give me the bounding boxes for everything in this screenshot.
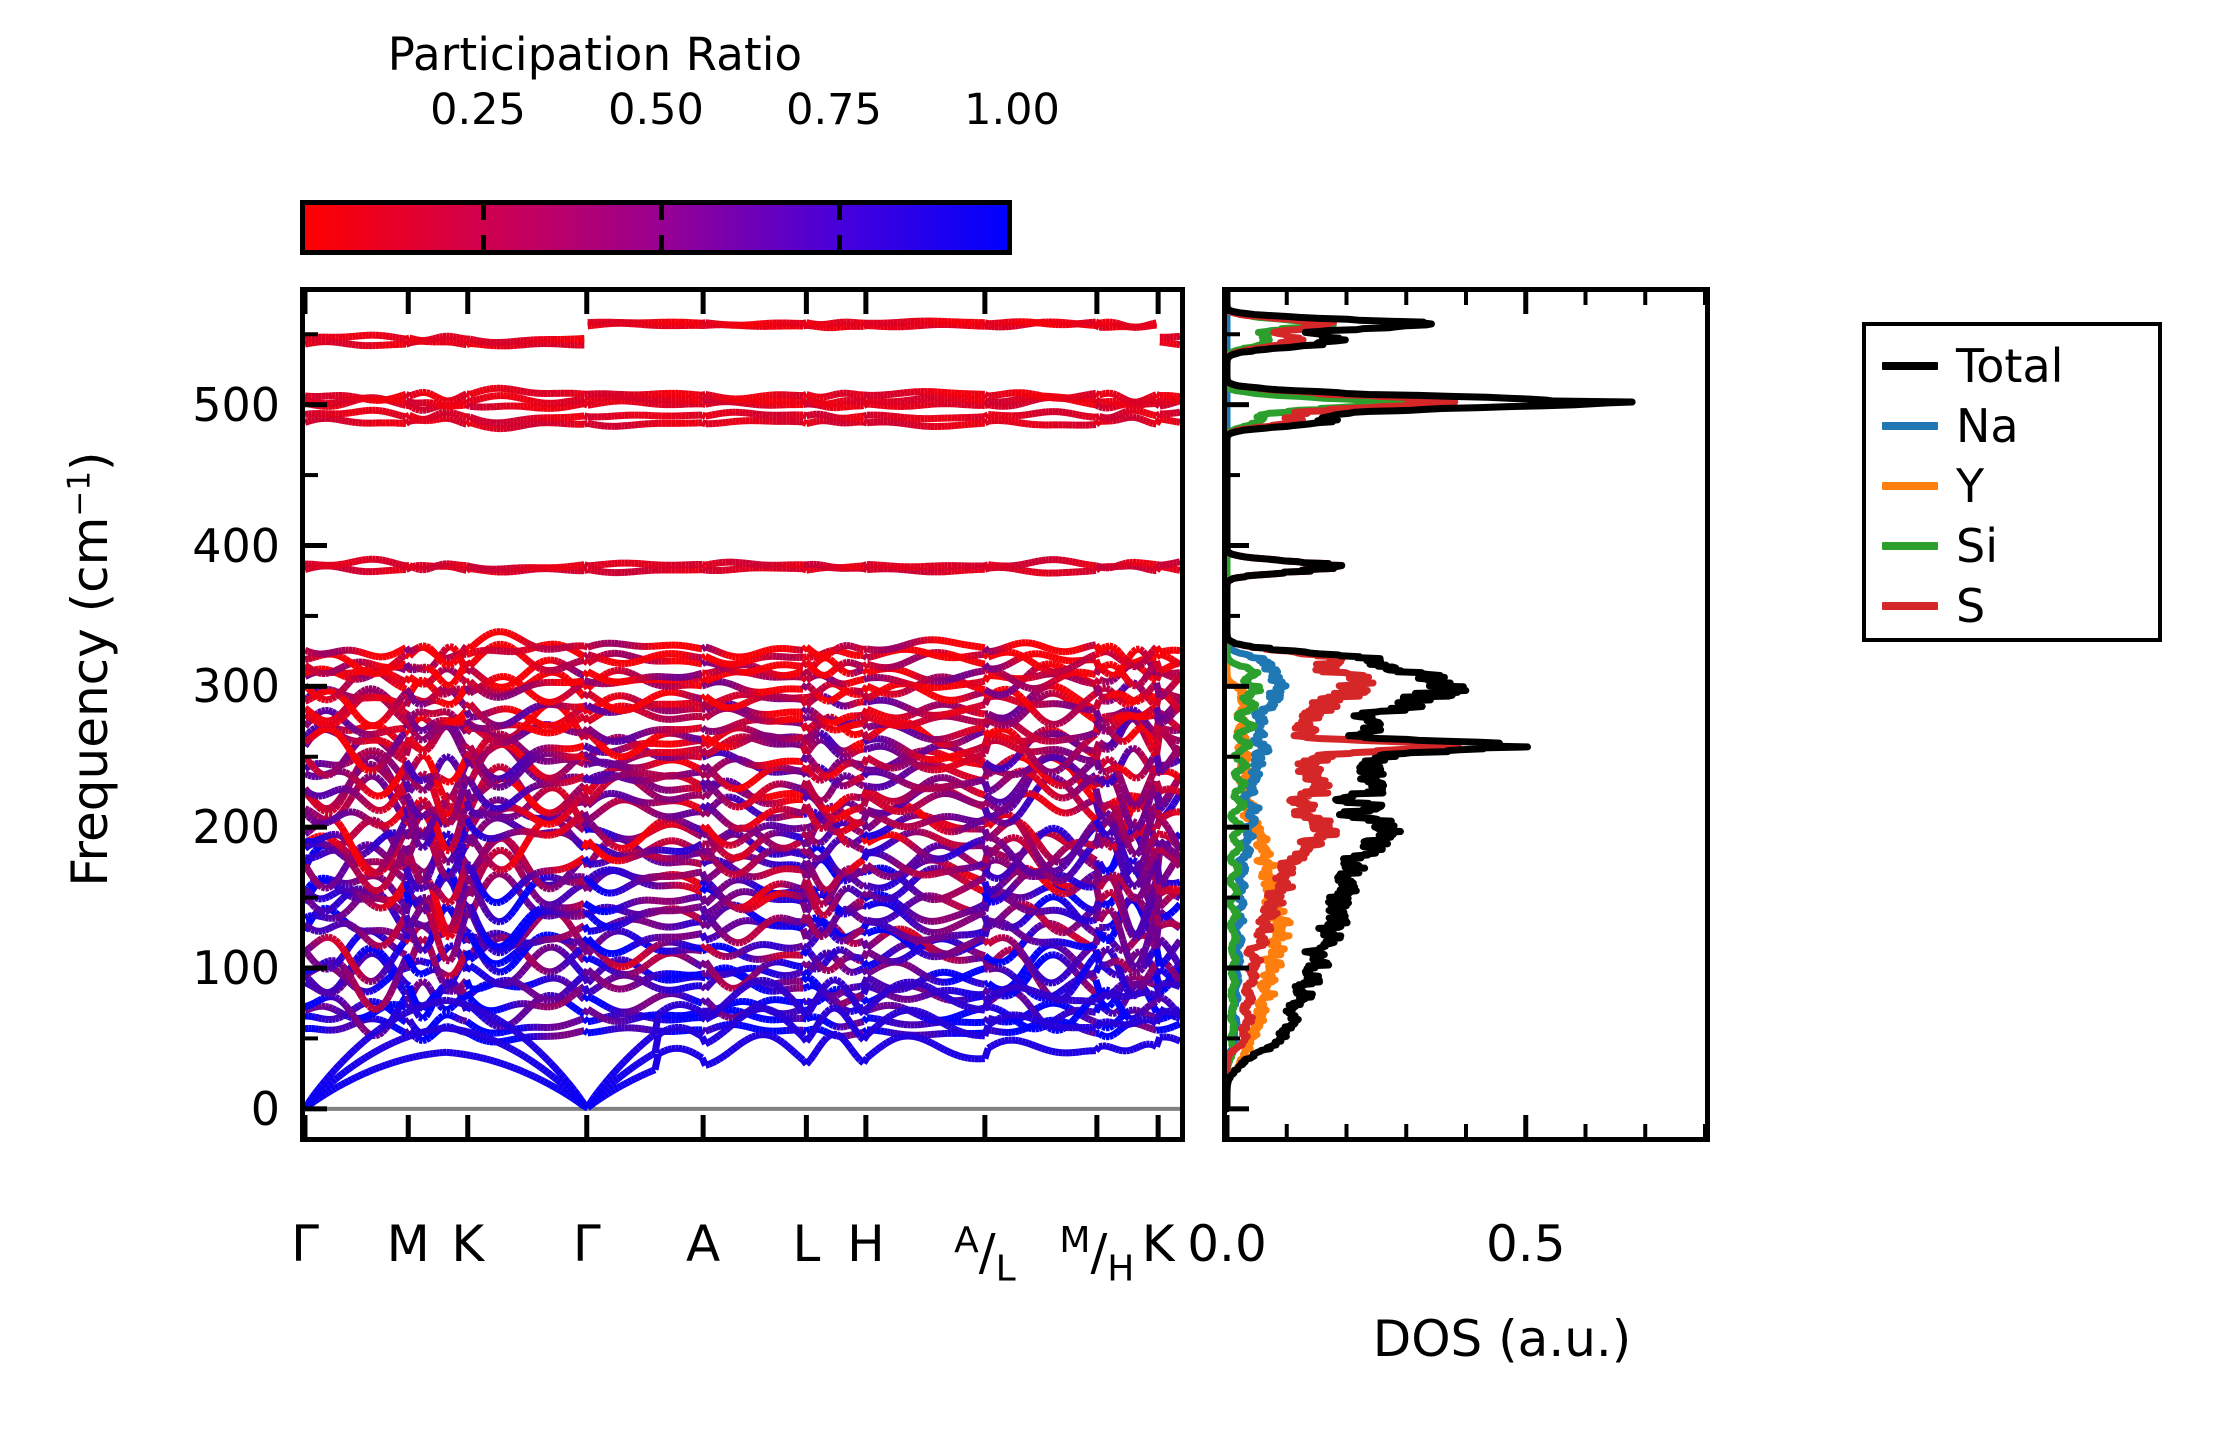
phonon-band-segment [759,1002,762,1004]
phonon-band-segment [541,949,544,951]
phonon-band-segment [564,402,567,403]
phonon-band-segment [679,989,682,990]
phonon-band-segment [1002,961,1005,962]
phonon-band-segment [827,994,830,996]
phonon-band-segment [968,998,971,999]
phonon-band-segment [1163,402,1166,403]
phonon-band-segment [456,988,459,990]
phonon-band-segment [709,1003,712,1006]
phonon-band-segment [530,992,533,994]
phonon-band-segment [756,970,759,973]
phonon-band-segment [372,980,375,981]
phonon-band-segment [652,959,655,961]
phonon-band-segment [709,395,712,396]
phonon-band-segment [594,960,597,962]
phonon-band-segment [1173,569,1176,570]
phonon-band-segment [322,962,325,964]
phonon-band-segment [376,1002,379,1003]
phonon-band-segment [753,973,756,976]
phonon-band-segment [470,1024,473,1026]
phonon-band-segment [349,958,352,964]
phonon-band-segment [473,400,476,401]
phonon-band-segment [517,390,520,391]
phonon-band-segment [874,968,877,970]
phonon-band-segment [571,400,574,401]
phonon-band-segment [1167,1000,1170,1003]
phonon-band-segment [1123,418,1126,419]
phonon-band-segment [907,986,910,987]
phonon-band-segment [450,1015,453,1016]
phonon-band-segment [594,976,597,979]
phonon-band-segment [588,950,591,954]
phonon-band-segment [335,1029,338,1030]
phonon-band-segment [1093,977,1096,980]
phonon-band-segment [315,419,318,420]
phonon-band-segment [658,978,661,979]
phonon-band-segment [1163,1017,1166,1018]
phonon-band-segment [702,973,705,974]
phonon-band-segment [456,414,459,415]
phonon-band-segment [551,971,554,972]
phonon-band-segment [705,1000,708,1003]
phonon-band-segment [716,396,719,397]
phonon-band-segment [416,972,419,974]
phonon-band-segment [332,989,335,991]
phonon-band-segment [948,1018,951,1019]
phonon-band-segment [1039,1028,1042,1029]
phonon-band-segment [517,397,520,398]
phonon-band-segment [1096,980,1099,991]
phonon-band-segment [995,1031,998,1032]
phonon-band-segment [948,973,951,974]
band-structure-svg [305,292,1180,1137]
phonon-band-segment [843,957,846,959]
phonon-band-segment [403,565,406,566]
phonon-band-segment [1153,1001,1156,1003]
phonon-band-segment [1106,968,1109,971]
phonon-band-segment [440,564,443,565]
phonon-band-segment [483,426,486,427]
phonon-band-segment [561,979,564,981]
phonon-band-segment [1140,411,1143,412]
phonon-band-segment [578,949,581,952]
phonon-band-segment [1163,1029,1166,1030]
phonon-band-segment [833,995,836,996]
phonon-band-segment [1173,1025,1176,1026]
phonon-band-segment [857,957,860,958]
phonon-band-segment [1140,567,1143,568]
phonon-band-segment [729,988,732,989]
phonon-band-segment [1059,978,1062,981]
phonon-band-segment [860,986,863,987]
phonon-band-segment [430,987,433,993]
phonon-band-segment [642,980,645,982]
phonon-band-segment [305,421,308,422]
phonon-band-segment [386,412,389,413]
phonon-band-segment [1123,980,1126,988]
phonon-band-segment [1170,563,1173,564]
phonon-band-segment [837,962,840,965]
phonon-band-segment [601,1017,604,1019]
phonon-band-segment [345,969,348,974]
phonon-band-segment [729,956,732,957]
phonon-band-segment [1093,1032,1096,1033]
phonon-band-segment [1170,568,1173,569]
phonon-band-segment [1143,412,1146,413]
phonon-band-segment [880,1006,883,1007]
phonon-band-segment [386,399,389,400]
phonon-band-segment [901,945,904,946]
phonon-band-segment [335,419,338,420]
phonon-band-segment [359,560,362,561]
phonon-band-segment [911,967,914,969]
phonon-band-segment [557,1026,560,1027]
phonon-band-segment [480,398,483,399]
phonon-band-segment [594,571,597,572]
phonon-band-segment [335,969,338,972]
phonon-band-segment [426,393,429,394]
phonon-band-segment [628,1011,631,1012]
phonon-band-segment [510,396,513,397]
phonon-band-segment [571,984,574,987]
phonon-band-segment [1066,561,1069,562]
phonon-band-segment [712,946,715,947]
phonon-band-segment [1177,562,1180,563]
phonon-band-segment [746,1026,749,1027]
phonon-band-segment [1008,972,1011,974]
phonon-band-segment [1035,395,1038,396]
phonon-band-segment [783,982,786,983]
phonon-band-segment [880,959,883,960]
phonon-band-segment [813,957,816,962]
phonon-band-segment [396,949,399,954]
phonon-band-segment [305,400,308,401]
phonon-band-segment [1119,1005,1122,1011]
phonon-band-segment [1146,1005,1149,1008]
phonon-band-segment [305,949,308,951]
phonon-band-segment [423,1040,426,1041]
phonon-band-segment [352,1014,355,1019]
phonon-band-segment [403,416,406,417]
phonon-band-segment [635,983,638,985]
phonon-band-segment [971,950,974,952]
phonon-band-segment [874,1007,877,1008]
phonon-band-segment [352,963,355,968]
phonon-band-segment [780,982,783,983]
phonon-band-segment [369,1006,372,1008]
phonon-band-segment [510,421,513,422]
phonon-band-segment [642,954,645,957]
phonon-band-segment [833,966,836,969]
phonon-band-segment [1150,1028,1153,1029]
phonon-band-segment [1049,397,1052,398]
phonon-band-segment [507,1006,510,1007]
phonon-band-segment [312,968,315,970]
phonon-band-segment [773,946,776,947]
phonon-band-segment [1123,325,1126,326]
phonon-band-segment [817,403,820,404]
phonon-band-segment [749,1027,752,1028]
phonon-band-segment [379,984,382,987]
phonon-band-segment [1005,959,1008,961]
phonon-band-segment [376,978,379,981]
phonon-band-segment [584,1031,587,1033]
phonon-band-segment [864,986,867,994]
phonon-band-segment [527,956,530,960]
phonon-band-segment [591,998,594,1000]
phonon-band-segment [399,1030,402,1032]
phonon-band-segment [315,1006,318,1007]
phonon-band-segment [430,408,433,409]
phonon-band-segment [588,400,591,401]
phonon-band-segment [1136,402,1139,403]
phonon-band-segment [985,956,988,959]
phonon-band-segment [1076,980,1079,985]
phonon-band-segment [416,418,419,419]
phonon-band-segment [769,962,772,963]
phonon-band-segment [524,987,527,989]
phonon-band-segment [938,951,941,952]
phonon-band-segment [1086,984,1089,987]
phonon-band-segment [1150,422,1153,423]
phonon-band-segment [810,952,813,956]
phonon-band-segment [615,988,618,989]
phonon-band-segment [1167,420,1170,421]
phonon-band-segment [901,959,904,961]
phonon-band-segment [1062,1021,1065,1022]
phonon-band-segment [433,566,436,567]
phonon-band-segment [574,1032,577,1033]
phonon-band-segment [951,959,954,960]
phonon-band-segment [759,1018,762,1019]
phonon-band-segment [345,952,348,957]
phonon-band-segment [430,394,433,395]
phonon-band-segment [843,968,846,971]
phonon-band-segment [416,983,419,987]
phonon-band-segment [833,422,836,423]
phonon-band-segment [514,1039,517,1040]
phonon-band-segment [635,971,638,973]
phonon-band-segment [1025,1000,1028,1004]
phonon-band-segment [1109,407,1112,408]
phonon-band-segment [709,982,712,986]
phonon-band-segment [1082,1016,1085,1018]
phonon-band-segment [1109,1035,1112,1036]
phonon-band-segment [611,1021,614,1022]
phonon-band-segment [1018,1023,1021,1025]
phonon-band-segment [386,965,389,970]
phonon-band-segment [318,939,321,941]
phonon-band-segment [382,954,385,958]
phonon-band-segment [833,1026,836,1027]
phonon-band-segment [860,1021,863,1022]
phonon-band-segment [716,976,719,980]
phonon-band-segment [409,961,412,968]
phonon-band-segment [1086,564,1089,565]
phonon-band-segment [1055,945,1058,946]
phonon-band-segment [527,400,530,401]
phonon-band-segment [894,1006,897,1007]
phonon-band-segment [1146,421,1149,422]
phonon-band-segment [810,966,813,968]
phonon-band-segment [1076,562,1079,563]
y-axis-tick-label: 500 [90,378,280,432]
phonon-band-segment [406,1005,409,1008]
colorbar [300,200,1012,255]
phonon-band-segment [830,969,833,971]
phonon-band-segment [618,1011,621,1012]
phonon-band-segment [625,932,628,933]
phonon-band-segment [416,961,419,962]
phonon-band-segment [854,957,857,958]
phonon-band-segment [944,1019,947,1020]
phonon-band-segment [618,973,621,974]
phonon-band-segment [1167,401,1170,402]
phonon-band-segment [514,1004,517,1005]
phonon-band-segment [1113,961,1116,962]
phonon-band-segment [504,1031,507,1032]
phonon-band-segment [712,971,715,976]
phonon-band-segment [749,958,752,959]
phonon-band-segment [611,931,614,932]
phonon-band-segment [393,337,396,338]
phonon-band-segment [409,1020,412,1025]
phonon-band-segment [722,1015,725,1017]
phonon-band-segment [759,1030,762,1031]
phonon-band-segment [1069,413,1072,414]
phonon-band-segment [574,405,577,406]
phonon-band-segment [1029,414,1032,415]
phonon-band-segment [460,401,463,403]
phonon-band-segment [1150,983,1153,984]
phonon-band-segment [598,985,601,987]
phonon-band-segment [423,939,426,941]
phonon-band-segment [520,420,523,421]
phonon-band-segment [588,958,591,959]
phonon-band-segment [1012,992,1015,994]
phonon-band-segment [1136,971,1139,972]
phonon-band-segment [870,953,873,955]
phonon-band-segment [928,977,931,979]
phonon-band-segment [1096,393,1099,395]
phonon-band-segment [1029,932,1032,936]
phonon-band-segment [1109,1003,1112,1006]
phonon-band-segment [965,993,968,994]
phonon-band-segment [827,566,830,567]
phonon-band-segment [1086,975,1089,976]
phonon-band-segment [517,420,520,421]
phonon-band-segment [716,953,719,955]
phonon-band-segment [810,323,813,324]
phonon-band-segment [430,339,433,340]
phonon-band-segment [456,403,459,405]
phonon-band-segment [584,570,587,571]
phonon-band-segment [1045,1004,1048,1005]
phonon-band-segment [409,338,412,339]
phonon-band-segment [904,964,907,965]
phonon-band-segment [763,959,766,960]
phonon-band-segment [308,420,311,421]
phonon-band-segment [1062,1014,1065,1016]
phonon-band-segment [473,340,476,341]
phonon-band-segment [1022,570,1025,571]
phonon-band-segment [335,961,338,965]
phonon-band-segment [894,997,897,998]
phonon-band-segment [611,1015,614,1016]
phonon-band-segment [342,1027,345,1028]
phonon-band-segment [679,954,682,955]
phonon-band-segment [389,1004,392,1005]
phonon-band-segment [335,940,338,943]
phonon-band-segment [345,421,348,422]
phonon-band-segment [396,563,399,564]
phonon-band-segment [611,970,614,972]
phonon-band-segment [359,973,362,977]
phonon-band-segment [524,966,527,970]
colorbar-title: Participation Ratio [215,28,975,81]
phonon-band-segment [514,397,517,398]
phonon-band-segment [335,1018,338,1019]
phonon-band-segment [1015,422,1018,423]
phonon-band-segment [588,405,591,406]
phonon-band-segment [652,976,655,977]
phonon-band-segment [722,974,725,975]
phonon-band-segment [1015,1020,1018,1022]
phonon-band-segment [729,972,732,973]
phonon-band-segment [396,1008,399,1014]
phonon-band-segment [847,957,850,958]
phonon-band-segment [1163,942,1166,946]
phonon-band-segment [369,1013,372,1015]
phonon-band-segment [557,996,560,998]
phonon-band-segment [413,1025,416,1029]
phonon-band-segment [1106,990,1109,991]
phonon-band-segment [584,404,587,406]
phonon-band-segment [988,983,991,986]
phonon-band-segment [1062,949,1065,952]
phonon-band-segment [961,1000,964,1001]
phonon-band-segment [396,396,399,397]
phonon-band-segment [830,1001,833,1004]
phonon-band-segment [1096,950,1099,964]
phonon-band-segment [342,343,345,344]
phonon-band-segment [312,943,315,946]
phonon-band-segment [514,421,517,422]
phonon-band-segment [591,424,594,425]
phonon-band-segment [591,1011,594,1013]
phonon-band-segment [594,1013,597,1015]
phonon-band-segment [564,999,567,1001]
phonon-band-segment [473,392,476,393]
phonon-band-segment [460,958,463,965]
phonon-band-segment [1079,974,1082,979]
phonon-band-segment [992,1030,995,1031]
phonon-band-segment [1018,423,1021,424]
phonon-band-segment [450,400,453,401]
phonon-band-segment [712,414,715,415]
phonon-band-segment [1170,421,1173,422]
phonon-band-segment [1008,994,1011,995]
phonon-band-segment [658,974,661,975]
phonon-band-segment [1177,396,1180,397]
phonon-band-segment [335,1010,338,1012]
phonon-band-segment [611,977,614,979]
phonon-band-segment [450,975,453,976]
phonon-band-segment [446,991,449,992]
phonon-band-segment [968,959,971,960]
phonon-band-segment [975,971,978,972]
phonon-band-segment [631,985,634,987]
